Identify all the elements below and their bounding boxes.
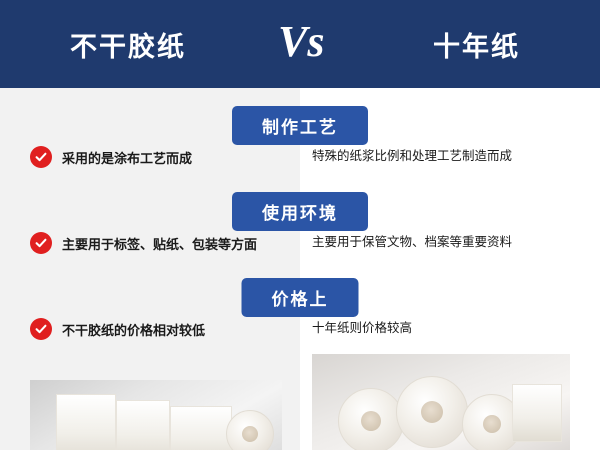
label-paper-rolls-photo <box>30 380 282 450</box>
header-vs-label: Vs <box>278 20 324 64</box>
section-pill-manufacturing: 制作工艺 <box>232 106 368 145</box>
left-item-text-manufacturing: 采用的是涂布工艺而成 <box>62 148 192 167</box>
left-item-price: 不干胶纸的价格相对较低 <box>30 318 300 340</box>
section-pill-price: 价格上 <box>242 278 359 317</box>
paper-roll-core <box>483 415 501 433</box>
comparison-infographic: 不干胶纸 Vs 十年纸 制作工艺 采用的是涂布工艺而成 特殊的纸浆比例和处理工艺… <box>0 0 600 450</box>
left-item-text-price: 不干胶纸的价格相对较低 <box>62 320 205 339</box>
paper-roll-shape <box>338 388 404 450</box>
left-item-usage: 主要用于标签、贴纸、包装等方面 <box>30 232 300 254</box>
paper-roll-shape <box>116 400 170 450</box>
check-icon <box>30 318 52 340</box>
content-area: 制作工艺 采用的是涂布工艺而成 特殊的纸浆比例和处理工艺制造而成 使用环境 <box>0 88 600 450</box>
header-banner: 不干胶纸 Vs 十年纸 <box>0 0 600 88</box>
paper-roll-shape <box>56 394 116 450</box>
ten-year-paper-rolls-photo <box>312 354 570 450</box>
paper-roll-core <box>421 401 443 423</box>
right-item-text-manufacturing: 特殊的纸浆比例和处理工艺制造而成 <box>312 148 594 166</box>
header-left-title: 不干胶纸 <box>70 25 186 64</box>
paper-roll-shape <box>170 406 232 450</box>
check-icon <box>30 146 52 168</box>
paper-roll-core <box>361 411 381 431</box>
right-item-text-price: 十年纸则价格较高 <box>312 320 594 338</box>
left-item-manufacturing: 采用的是涂布工艺而成 <box>30 146 300 168</box>
left-item-text-usage: 主要用于标签、贴纸、包装等方面 <box>62 234 257 253</box>
section-pill-usage: 使用环境 <box>232 192 368 231</box>
paper-stack-shape <box>512 384 562 442</box>
header-right-title: 十年纸 <box>433 25 520 64</box>
paper-roll-shape <box>226 410 274 450</box>
check-icon <box>30 232 52 254</box>
paper-roll-shape <box>396 376 468 448</box>
right-item-text-usage: 主要用于保管文物、档案等重要资料 <box>312 234 594 252</box>
paper-roll-core <box>242 426 258 442</box>
